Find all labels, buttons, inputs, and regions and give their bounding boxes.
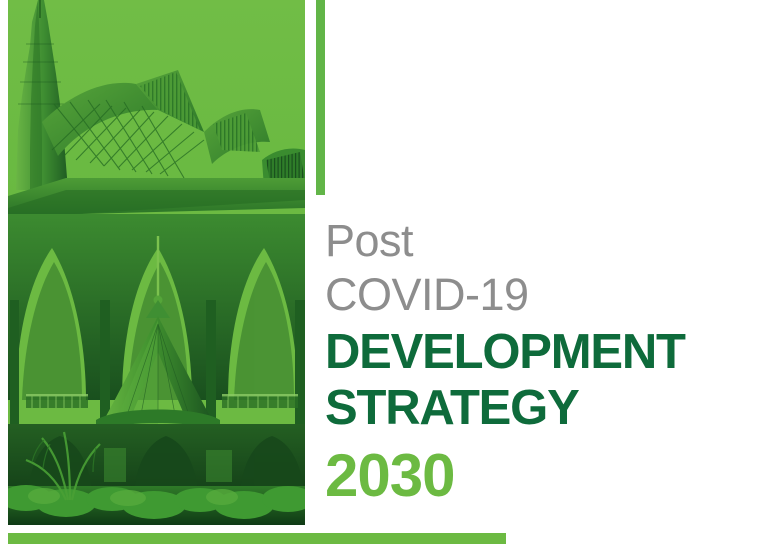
- title-line-covid: COVID-19: [325, 267, 745, 322]
- title-line-development: DEVELOPMENT: [325, 324, 745, 380]
- cover-photo: [8, 0, 305, 525]
- title-line-year: 2030: [325, 442, 745, 510]
- title-line-strategy: STRATEGY: [325, 380, 745, 436]
- cover-title-block: Post COVID-19 DEVELOPMENT STRATEGY 2030: [325, 214, 745, 510]
- vertical-accent-rule: [316, 0, 325, 195]
- building-photo-illustration: [8, 0, 305, 525]
- title-line-post: Post: [325, 214, 745, 267]
- report-cover: Post COVID-19 DEVELOPMENT STRATEGY 2030: [0, 0, 761, 549]
- bottom-accent-bar: [8, 533, 506, 544]
